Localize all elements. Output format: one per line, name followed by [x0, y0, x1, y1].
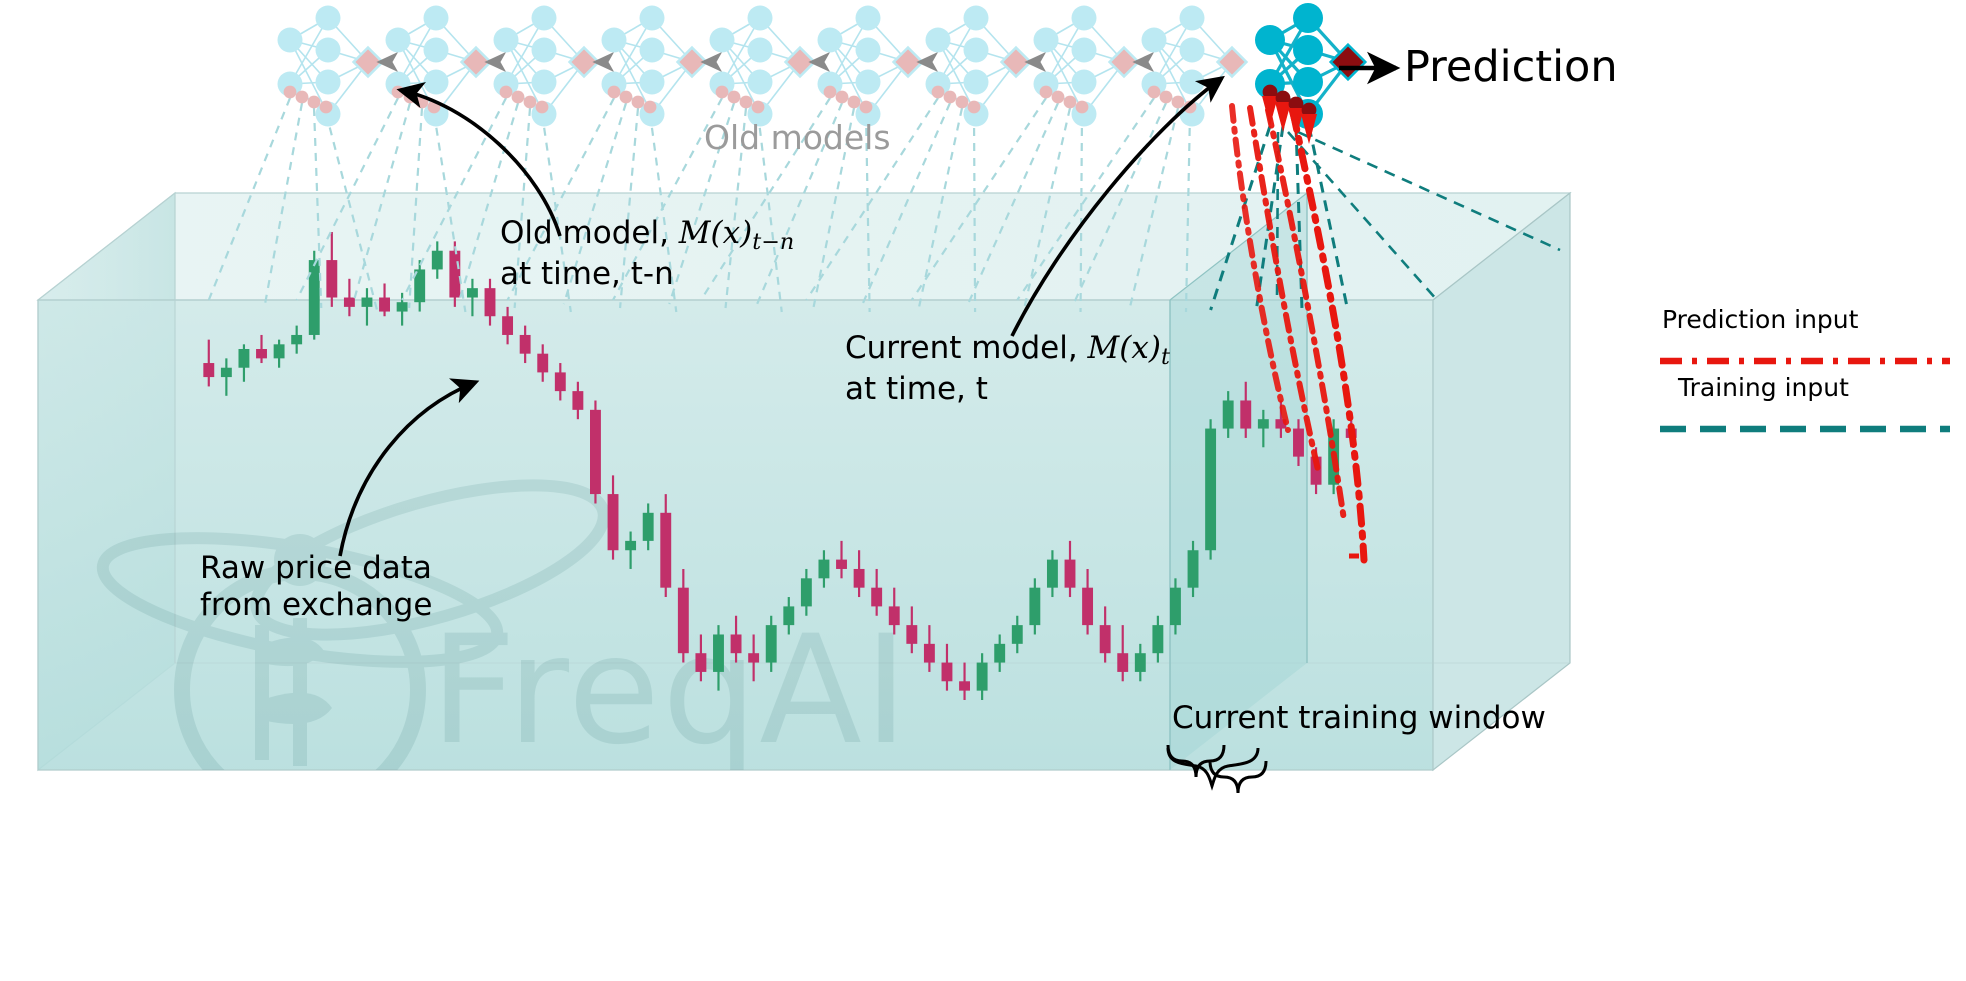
network-node: [316, 6, 341, 31]
network-node: [386, 28, 411, 53]
model-input-tap: [752, 101, 765, 114]
candle-body: [871, 588, 882, 607]
network-node: [748, 70, 773, 95]
network-node: [640, 70, 665, 95]
old-model-annotation-line1: Old model, M(x)t−n: [500, 215, 794, 256]
model-input-tap: [860, 101, 873, 114]
candle-body: [1170, 588, 1181, 625]
network-node: [1034, 28, 1059, 53]
model-input-tap: [956, 96, 969, 109]
model-input-tap: [1064, 96, 1077, 109]
network-node: [532, 70, 557, 95]
diagram-canvas: FreqAI: [0, 0, 1966, 981]
candle-body: [625, 541, 636, 550]
network-node: [1255, 25, 1285, 55]
network-node: [1072, 70, 1097, 95]
model-input-tap: [968, 101, 981, 114]
model-input-tap: [944, 91, 957, 104]
model-input-tap: [932, 86, 945, 99]
candle-body: [344, 298, 355, 307]
network-node: [640, 6, 665, 31]
model-input-tap: [1160, 91, 1173, 104]
network-node: [1142, 28, 1167, 53]
network-node: [964, 70, 989, 95]
network-node: [856, 6, 881, 31]
candle-body: [748, 653, 759, 662]
network-node: [710, 28, 735, 53]
candle-body: [818, 560, 829, 579]
network-node: [1180, 70, 1205, 95]
candle-body: [889, 606, 900, 625]
old-model-annotation-line2: at time, t-n: [500, 256, 794, 293]
candle-body: [362, 298, 373, 307]
candle-body: [1223, 400, 1234, 428]
diagram-svg: FreqAI: [0, 0, 1966, 981]
candle-body: [274, 344, 285, 358]
candle-body: [1188, 550, 1199, 587]
candle-body: [1152, 625, 1163, 653]
current-model-input-arrow: [1301, 114, 1317, 144]
candle-body: [994, 644, 1005, 663]
model-input-tap: [296, 91, 309, 104]
candle-body: [221, 368, 232, 377]
network-node: [1072, 38, 1097, 63]
network-node: [640, 38, 665, 63]
model-input-tap: [728, 91, 741, 104]
candle-body: [309, 260, 320, 335]
model-input-tap: [824, 86, 837, 99]
network-node: [278, 28, 303, 53]
candle-body: [502, 316, 513, 335]
model-input-tap: [500, 86, 513, 99]
model-input-tap: [1076, 101, 1089, 114]
candle-body: [520, 335, 531, 354]
model-input-tap: [848, 96, 861, 109]
model-input-tap: [512, 91, 525, 104]
legend-label-prediction-input: Prediction input: [1662, 305, 1858, 334]
candle-body: [766, 625, 777, 662]
candle-body: [1100, 625, 1111, 653]
model-input-tap: [524, 96, 537, 109]
model-input-tap: [620, 91, 633, 104]
candle-body: [924, 644, 935, 663]
candle-body: [695, 653, 706, 672]
candle-body: [291, 335, 302, 344]
candle-body: [379, 298, 390, 312]
network-node: [316, 38, 341, 63]
candle-body: [836, 560, 847, 569]
model-input-tap: [716, 86, 729, 99]
candle-body: [1117, 653, 1128, 672]
candle-body: [731, 634, 742, 653]
legend-label-training-input: Training input: [1678, 373, 1849, 402]
candle-body: [256, 349, 267, 358]
candle-body: [1082, 588, 1093, 625]
candle-body: [959, 681, 970, 690]
network-node: [964, 38, 989, 63]
network-node: [748, 38, 773, 63]
candle-body: [1205, 429, 1216, 551]
candle-body: [678, 588, 689, 654]
network-node: [424, 6, 449, 31]
current-model-annotation: Current model, M(x)t at time, t: [845, 330, 1170, 407]
candle-body: [1047, 560, 1058, 588]
current-model-input-arrow: [1275, 102, 1291, 132]
candle-body: [432, 251, 443, 270]
candle-body: [572, 391, 583, 410]
candle-body: [485, 288, 496, 316]
candle-body: [537, 354, 548, 373]
model-input-tap: [284, 86, 297, 99]
candle-body: [1065, 560, 1076, 588]
network-node: [1293, 35, 1323, 65]
candle-body: [326, 260, 337, 297]
candle-body: [1029, 588, 1040, 625]
network-node: [926, 28, 951, 53]
network-node: [748, 6, 773, 31]
candle-body: [397, 302, 408, 311]
candle-body: [713, 634, 724, 671]
model-input-tap: [1148, 86, 1161, 99]
network-node: [1180, 38, 1205, 63]
network-node: [424, 38, 449, 63]
current-model-annotation-line2: at time, t: [845, 371, 1170, 408]
candle-body: [1012, 625, 1023, 644]
candle-body: [1293, 429, 1304, 457]
candle-body: [783, 606, 794, 625]
network-node: [1072, 6, 1097, 31]
network-node: [532, 6, 557, 31]
candle-body: [1135, 653, 1146, 672]
model-input-tap: [740, 96, 753, 109]
candle-body: [555, 372, 566, 391]
model-input-tap: [644, 101, 657, 114]
raw-price-data-line2: from exchange: [200, 587, 432, 624]
candle-body: [1258, 419, 1269, 428]
candle-body: [977, 663, 988, 691]
candle-body: [643, 513, 654, 541]
candle-body: [854, 569, 865, 588]
model-input-tap: [308, 96, 321, 109]
network-node: [316, 70, 341, 95]
network-node: [1293, 67, 1323, 97]
network-node: [602, 28, 627, 53]
candle-body: [238, 349, 249, 368]
model-input-tap: [1040, 86, 1053, 99]
network-node: [1180, 6, 1205, 31]
model-input-tap: [1052, 91, 1065, 104]
candle-body: [801, 578, 812, 606]
candle-body: [660, 513, 671, 588]
candle-body: [590, 410, 601, 494]
raw-price-data-annotation: Raw price data from exchange: [200, 550, 432, 623]
candle-body: [1240, 400, 1251, 428]
model-input-tap: [632, 96, 645, 109]
candle-body: [467, 288, 478, 297]
candle-body: [449, 251, 460, 298]
current-training-window-label: Current training window: [1172, 700, 1546, 736]
candle-body: [942, 663, 953, 682]
network-node: [818, 28, 843, 53]
current-model-annotation-line1: Current model, M(x)t: [845, 330, 1170, 371]
old-models-label: Old models: [704, 118, 891, 157]
network-node: [494, 28, 519, 53]
network-node: [964, 6, 989, 31]
model-input-tap: [1172, 96, 1185, 109]
network-node: [424, 70, 449, 95]
candle-body: [203, 363, 214, 377]
network-node: [856, 38, 881, 63]
candle-body: [608, 494, 619, 550]
model-input-tap: [836, 91, 849, 104]
candle-body: [906, 625, 917, 644]
network-node: [532, 38, 557, 63]
model-input-tap: [536, 101, 549, 114]
prediction-label: Prediction: [1404, 42, 1618, 92]
raw-price-data-line1: Raw price data: [200, 550, 432, 587]
old-model-annotation: Old model, M(x)t−n at time, t-n: [500, 215, 794, 292]
network-node: [856, 70, 881, 95]
model-input-tap: [608, 86, 621, 99]
model-input-tap: [320, 101, 333, 114]
network-node: [1293, 3, 1323, 33]
